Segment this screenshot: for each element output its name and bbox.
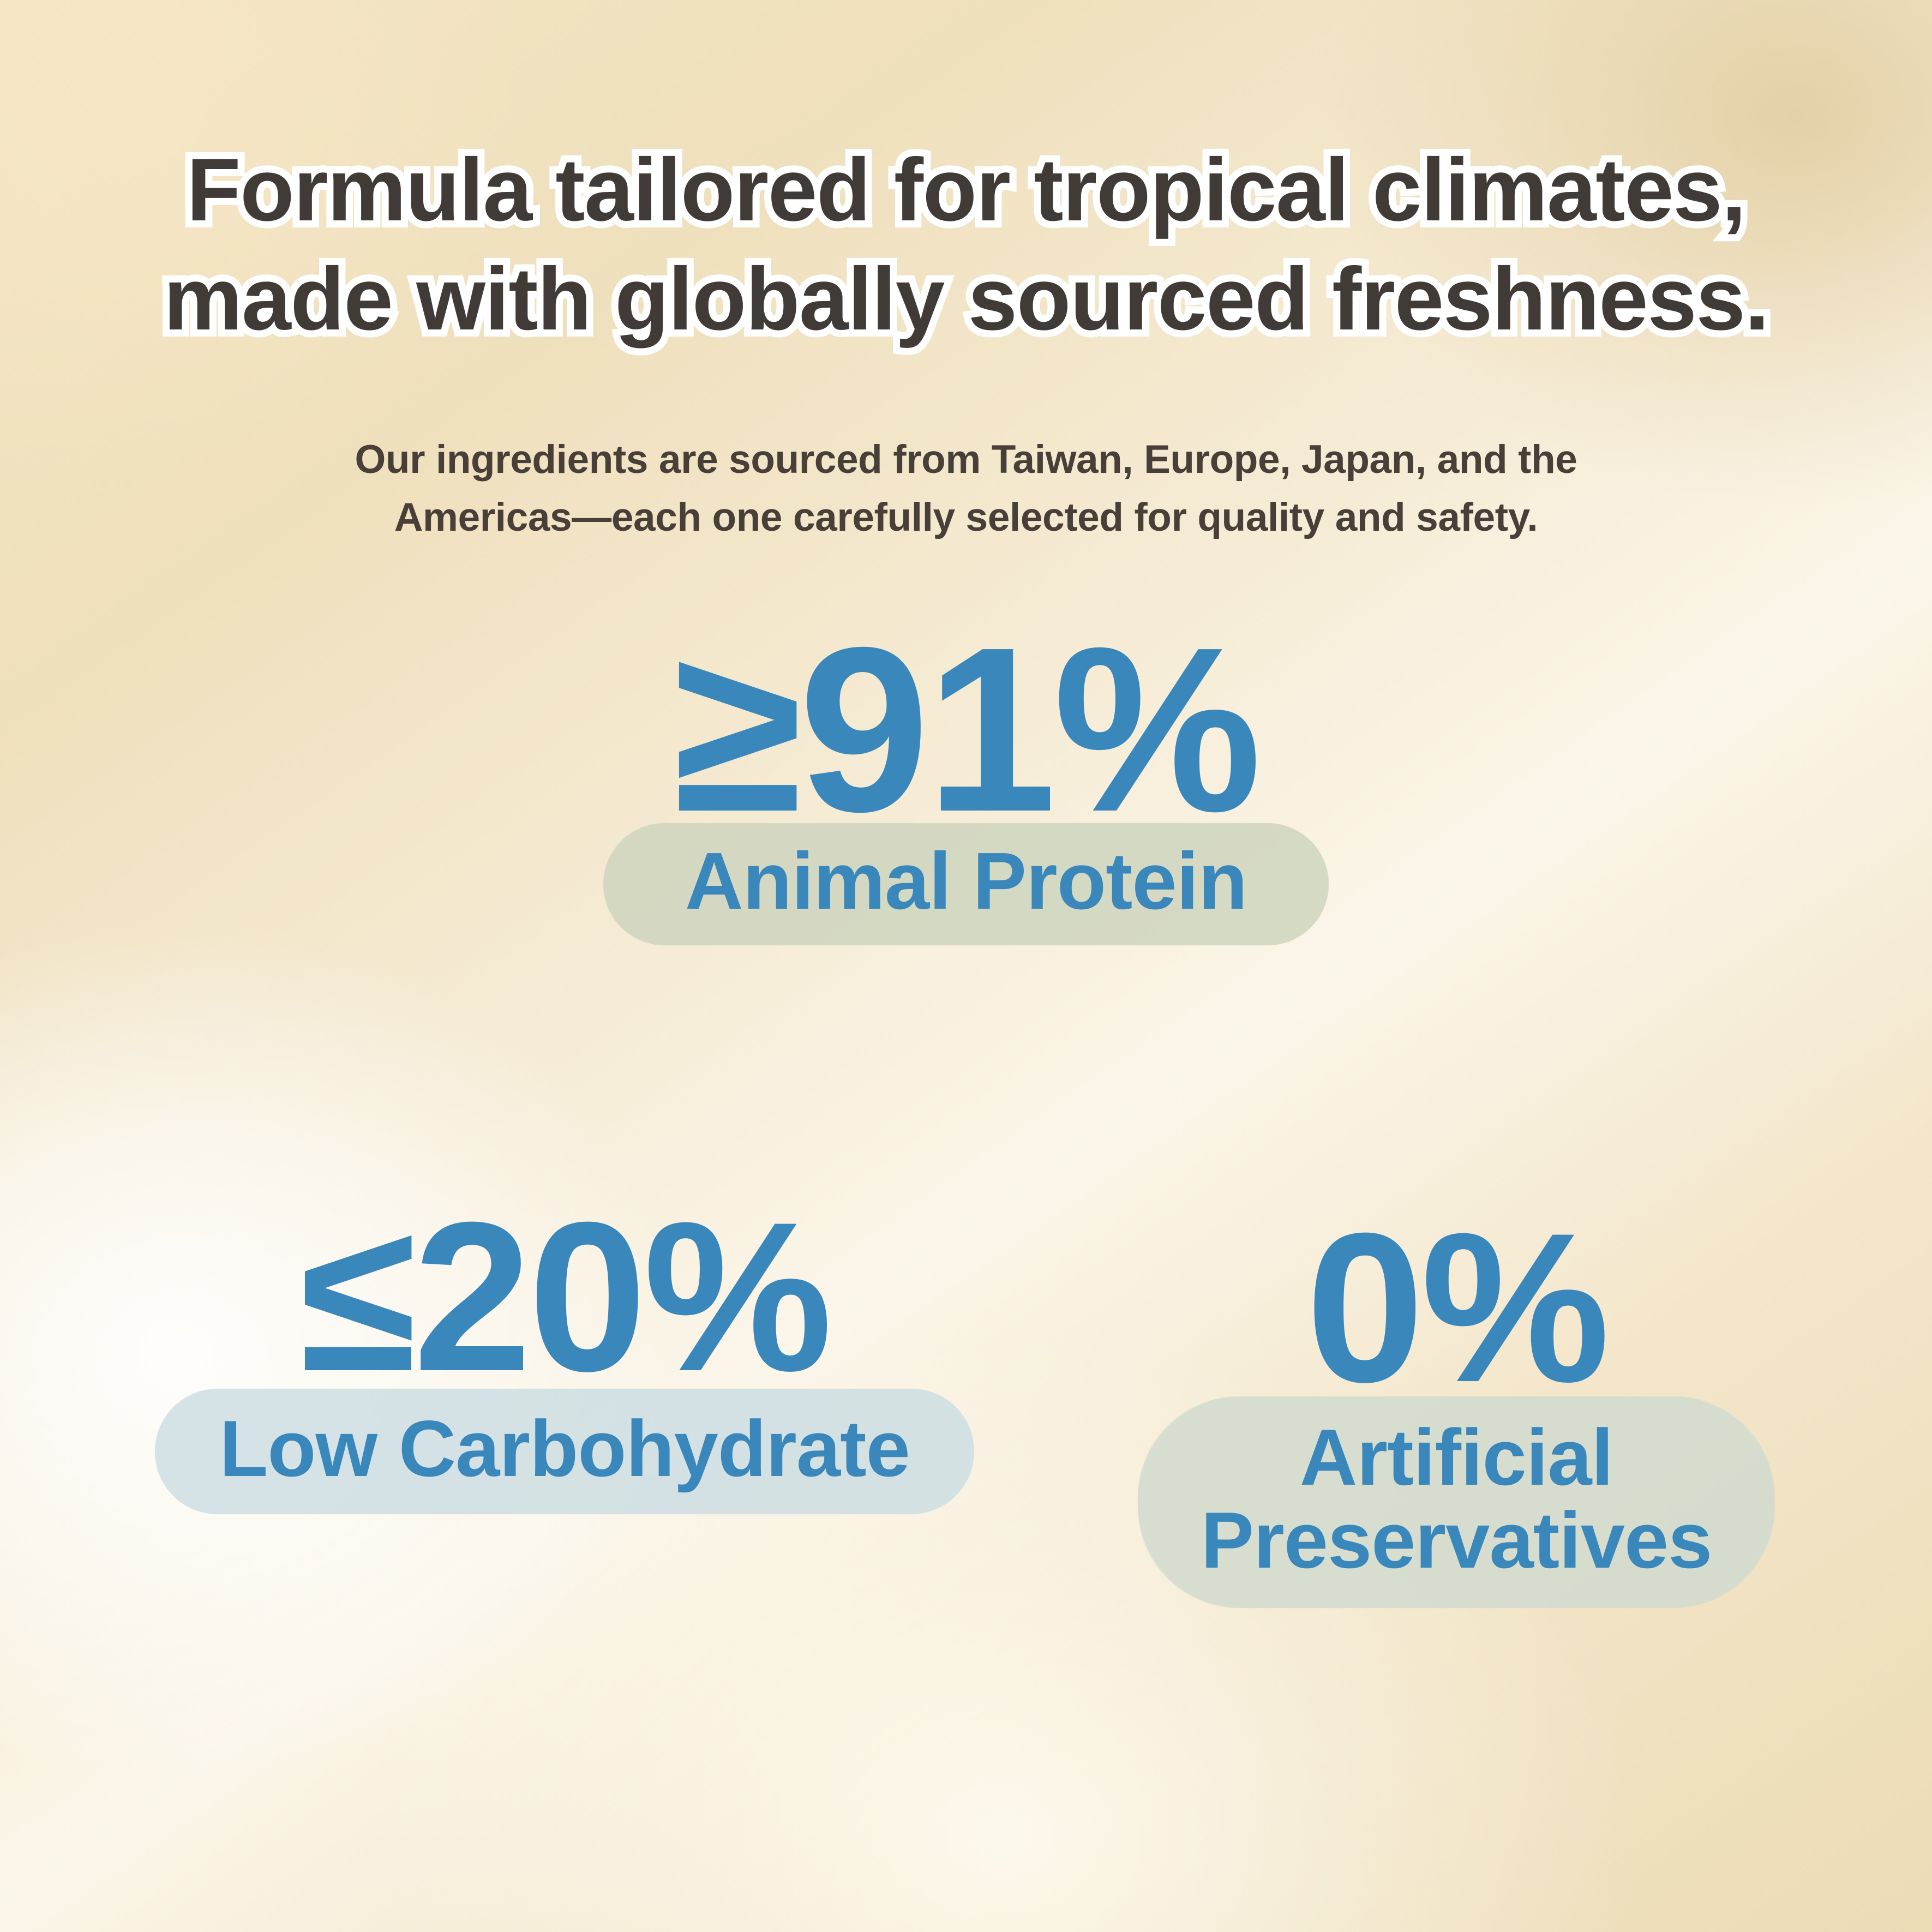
- stat-label-pill-animal-protein: Animal Protein: [603, 823, 1329, 945]
- stat-label-artificial-preservatives: Artificial Preservatives: [1201, 1416, 1712, 1582]
- page-headline: Formula tailored for tropical climates, …: [0, 135, 1932, 354]
- stat-label-low-carbohydrate: Low Carbohydrate: [219, 1407, 910, 1490]
- stat-value-animal-protein: ≥91%: [0, 617, 1932, 843]
- stat-value-low-carbohydrate: ≤20%: [11, 1195, 1118, 1399]
- page-subtitle: Our ingredients are sourced from Taiwan,…: [164, 431, 1768, 547]
- stat-value-artificial-preservatives: 0%: [1066, 1205, 1846, 1409]
- stat-artificial-preservatives: 0% Artificial Preservatives: [1066, 1205, 1846, 1608]
- stat-label-pill-artificial-preservatives: Artificial Preservatives: [1138, 1396, 1775, 1608]
- infographic-canvas: Formula tailored for tropical climates, …: [0, 0, 1932, 1932]
- stat-animal-protein: ≥91% Animal Protein: [0, 617, 1932, 945]
- stat-label-animal-protein: Animal Protein: [685, 839, 1247, 923]
- stat-label-pill-low-carbohydrate: Low Carbohydrate: [155, 1389, 974, 1514]
- stat-low-carbohydrate: ≤20% Low Carbohydrate: [11, 1195, 1118, 1514]
